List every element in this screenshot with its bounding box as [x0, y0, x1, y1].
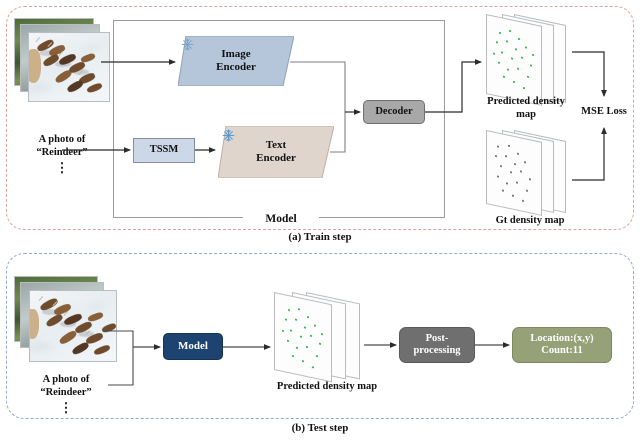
train-text-prompt: A photo of “Reindeer” ⋮ — [12, 133, 112, 171]
model-block-label: Model — [178, 340, 208, 353]
text-encoder-label: Text Encoder — [256, 139, 296, 165]
snowflake-icon — [222, 129, 235, 142]
result-label: Location:(x,y) Count:11 — [530, 333, 593, 358]
snowflake-icon — [181, 38, 194, 51]
caption-test-step: (b) Test step — [235, 422, 405, 434]
model-block[interactable]: Model — [163, 333, 223, 360]
prompt-ellipsis: ⋮ — [12, 164, 112, 171]
density-sheet-front — [486, 130, 542, 216]
caption-train-step: (a) Train step — [235, 231, 405, 243]
test-text-prompt: A photo of “Reindeer” ⋮ — [16, 373, 116, 411]
prompt-ellipsis: ⋮ — [16, 404, 116, 411]
train-input-image-stack — [14, 18, 116, 106]
image-encoder-block[interactable]: Image Encoder — [178, 36, 294, 86]
density-sheet-front — [274, 292, 332, 382]
image-sheet-front-reindeer — [29, 290, 117, 362]
prompt-line-2: “Reindeer” — [16, 386, 116, 399]
post-processing-block[interactable]: Post- processing — [399, 327, 475, 363]
gt-density-map-label: Gt density map — [470, 215, 590, 228]
tssm-label: TSSM — [150, 144, 179, 156]
result-block[interactable]: Location:(x,y) Count:11 — [512, 327, 612, 363]
density-sheet-front — [486, 14, 542, 106]
test-predicted-density-map-label: Predicted density map — [252, 381, 402, 394]
gt-density-map-stack — [484, 130, 574, 222]
prompt-line-2: “Reindeer” — [12, 146, 112, 159]
image-sheet-front-reindeer — [28, 32, 110, 102]
prompt-line-1: A photo of — [12, 133, 112, 146]
mse-loss-label: MSE Loss — [572, 106, 636, 119]
figure-pipeline-diagram: Model A photo of “Rein — [0, 0, 640, 446]
test-input-image-stack — [14, 276, 130, 368]
decoder-block[interactable]: Decoder — [363, 100, 425, 124]
prompt-line-1: A photo of — [16, 373, 116, 386]
train-predicted-density-map-stack — [484, 14, 574, 106]
model-container-label: Model — [243, 213, 319, 225]
post-processing-label: Post- processing — [413, 333, 460, 358]
tssm-block[interactable]: TSSM — [133, 138, 195, 163]
decoder-label: Decoder — [375, 106, 412, 118]
test-predicted-density-map-stack — [272, 292, 372, 386]
train-predicted-density-map-label: Predicted density map — [466, 96, 586, 122]
text-encoder-block[interactable]: Text Encoder — [218, 126, 334, 178]
image-encoder-label: Image Encoder — [216, 48, 256, 74]
